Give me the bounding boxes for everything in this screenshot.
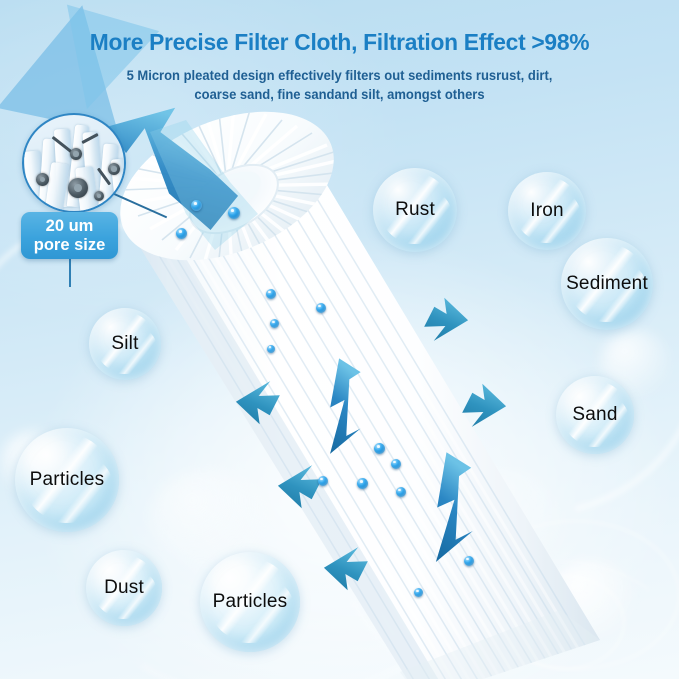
pore-particle — [108, 163, 120, 175]
subtitle-line-2: coarse sand, fine sandand silt, amongst … — [10, 85, 669, 104]
pore-particle — [70, 148, 82, 160]
badge-line-1: 20 um — [46, 217, 94, 236]
droplet — [316, 303, 326, 313]
outflow-arrow-glow — [150, 120, 258, 250]
droplet — [464, 556, 474, 566]
droplet — [318, 476, 328, 486]
header: More Precise Filter Cloth, Filtration Ef… — [0, 0, 679, 104]
badge-stem-line — [69, 259, 71, 287]
pore-size-badge: 20 um pore size — [21, 212, 118, 259]
droplet — [228, 207, 240, 219]
bubble-label: Rust — [395, 199, 435, 221]
pore-particle — [68, 178, 88, 198]
bubble-label: Particles — [213, 591, 288, 613]
badge-line-2: pore size — [34, 236, 106, 255]
inflow-arrows — [234, 296, 508, 592]
droplet — [176, 228, 187, 239]
bubble-dust: Dust — [86, 550, 162, 626]
bubble-label: Silt — [111, 333, 138, 355]
bubble-label: Particles — [30, 469, 105, 491]
droplet — [266, 289, 276, 299]
droplet — [270, 319, 279, 328]
bubble-sediment: Sediment — [561, 238, 653, 330]
bubble-sand: Sand — [556, 376, 634, 454]
bubble-particles-bottom: Particles — [200, 552, 300, 652]
bubble-particles-left: Particles — [15, 428, 119, 532]
droplet — [396, 487, 406, 497]
bubble-label: Sediment — [566, 273, 648, 295]
droplet — [357, 478, 368, 489]
cartridge-top-cap — [98, 83, 355, 289]
bubble-label: Iron — [530, 200, 564, 222]
page-title: More Precise Filter Cloth, Filtration Ef… — [10, 29, 669, 56]
magnifier-circle — [22, 113, 126, 213]
bubble-label: Sand — [572, 404, 617, 426]
subtitle-line-1: 5 Micron pleated design effectively filt… — [10, 66, 669, 85]
pore-particle — [36, 173, 49, 186]
internal-flow-arrows — [320, 356, 480, 562]
droplet — [267, 345, 275, 353]
bubble-label: Dust — [104, 577, 144, 599]
bubble-rust: Rust — [373, 168, 457, 252]
magnifier-inset — [22, 113, 126, 213]
droplet — [191, 200, 202, 211]
droplet — [414, 588, 423, 597]
droplet — [391, 459, 401, 469]
pore-particle — [94, 191, 104, 201]
bubble-silt: Silt — [89, 308, 161, 380]
outflow-arrow-icon — [108, 101, 242, 242]
droplet — [374, 443, 385, 454]
bubble-iron: Iron — [508, 172, 586, 250]
infographic-canvas: More Precise Filter Cloth, Filtration Ef… — [0, 0, 679, 679]
